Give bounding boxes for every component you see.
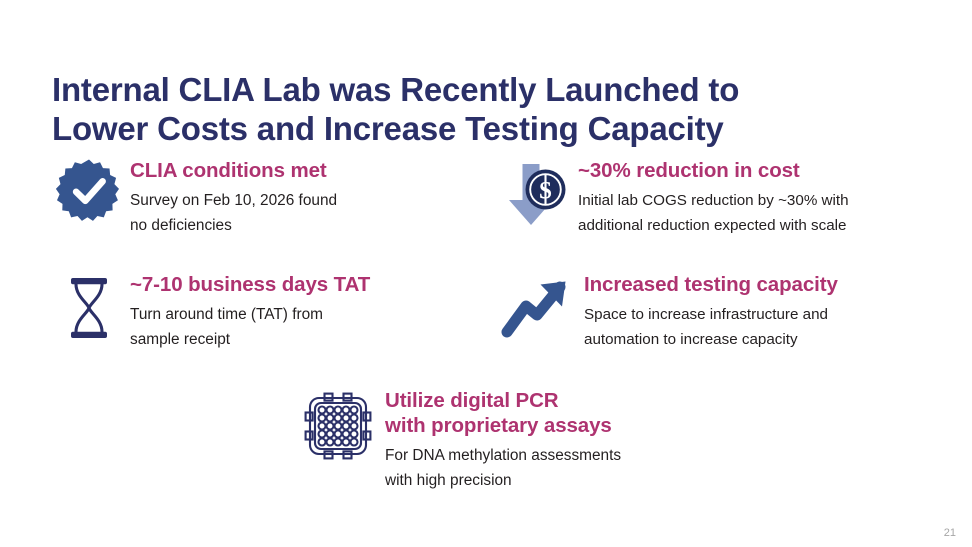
feature-block-digital-pcr: Utilize digital PCR with proprietary ass… [290, 388, 760, 493]
feature-heading-turnaround-time: ~7-10 business days TAT [130, 272, 468, 297]
page-title-line-1: Internal CLIA Lab was Recently Launched … [52, 70, 882, 109]
feature-block-clia-conditions: CLIA conditions met Survey on Feb 10, 20… [48, 158, 468, 238]
feature-body-turnaround-time: Turn around time (TAT) from sample recei… [130, 302, 468, 352]
feature-heading-testing-capacity: Increased testing capacity [584, 272, 940, 297]
feature-block-turnaround-time: ~7-10 business days TAT Turn around time… [48, 272, 468, 352]
feature-text-clia-conditions: CLIA conditions met Survey on Feb 10, 20… [130, 158, 468, 238]
microplate-well-grid-icon [290, 388, 385, 460]
page-title: Internal CLIA Lab was Recently Launched … [52, 70, 882, 148]
feature-body-clia-conditions: Survey on Feb 10, 2026 found no deficien… [130, 188, 468, 238]
page-number: 21 [944, 527, 956, 539]
feature-block-testing-capacity: Increased testing capacity Space to incr… [490, 272, 940, 352]
feature-block-cost-reduction: $ ~30% reduction in cost Initial lab COG… [492, 158, 942, 238]
feature-text-testing-capacity: Increased testing capacity Space to incr… [584, 272, 940, 352]
feature-text-cost-reduction: ~30% reduction in cost Initial lab COGS … [578, 158, 942, 238]
feature-body-testing-capacity: Space to increase infrastructure and aut… [584, 302, 940, 352]
feature-heading-clia-conditions: CLIA conditions met [130, 158, 468, 183]
feature-heading-digital-pcr: Utilize digital PCR with proprietary ass… [385, 388, 760, 438]
feature-text-digital-pcr: Utilize digital PCR with proprietary ass… [385, 388, 760, 493]
feature-body-cost-reduction: Initial lab COGS reduction by ~30% with … [578, 188, 942, 238]
cost-reduction-down-arrow-dollar-icon: $ [492, 158, 578, 228]
feature-text-turnaround-time: ~7-10 business days TAT Turn around time… [130, 272, 468, 352]
slide-canvas: Internal CLIA Lab was Recently Launched … [0, 0, 972, 547]
page-title-line-2: Lower Costs and Increase Testing Capacit… [52, 109, 882, 148]
hourglass-icon [48, 272, 130, 340]
upward-trend-arrow-icon [490, 272, 584, 340]
verified-badge-check-icon [48, 158, 130, 224]
feature-body-digital-pcr: For DNA methylation assessments with hig… [385, 443, 760, 493]
feature-heading-cost-reduction: ~30% reduction in cost [578, 158, 942, 183]
